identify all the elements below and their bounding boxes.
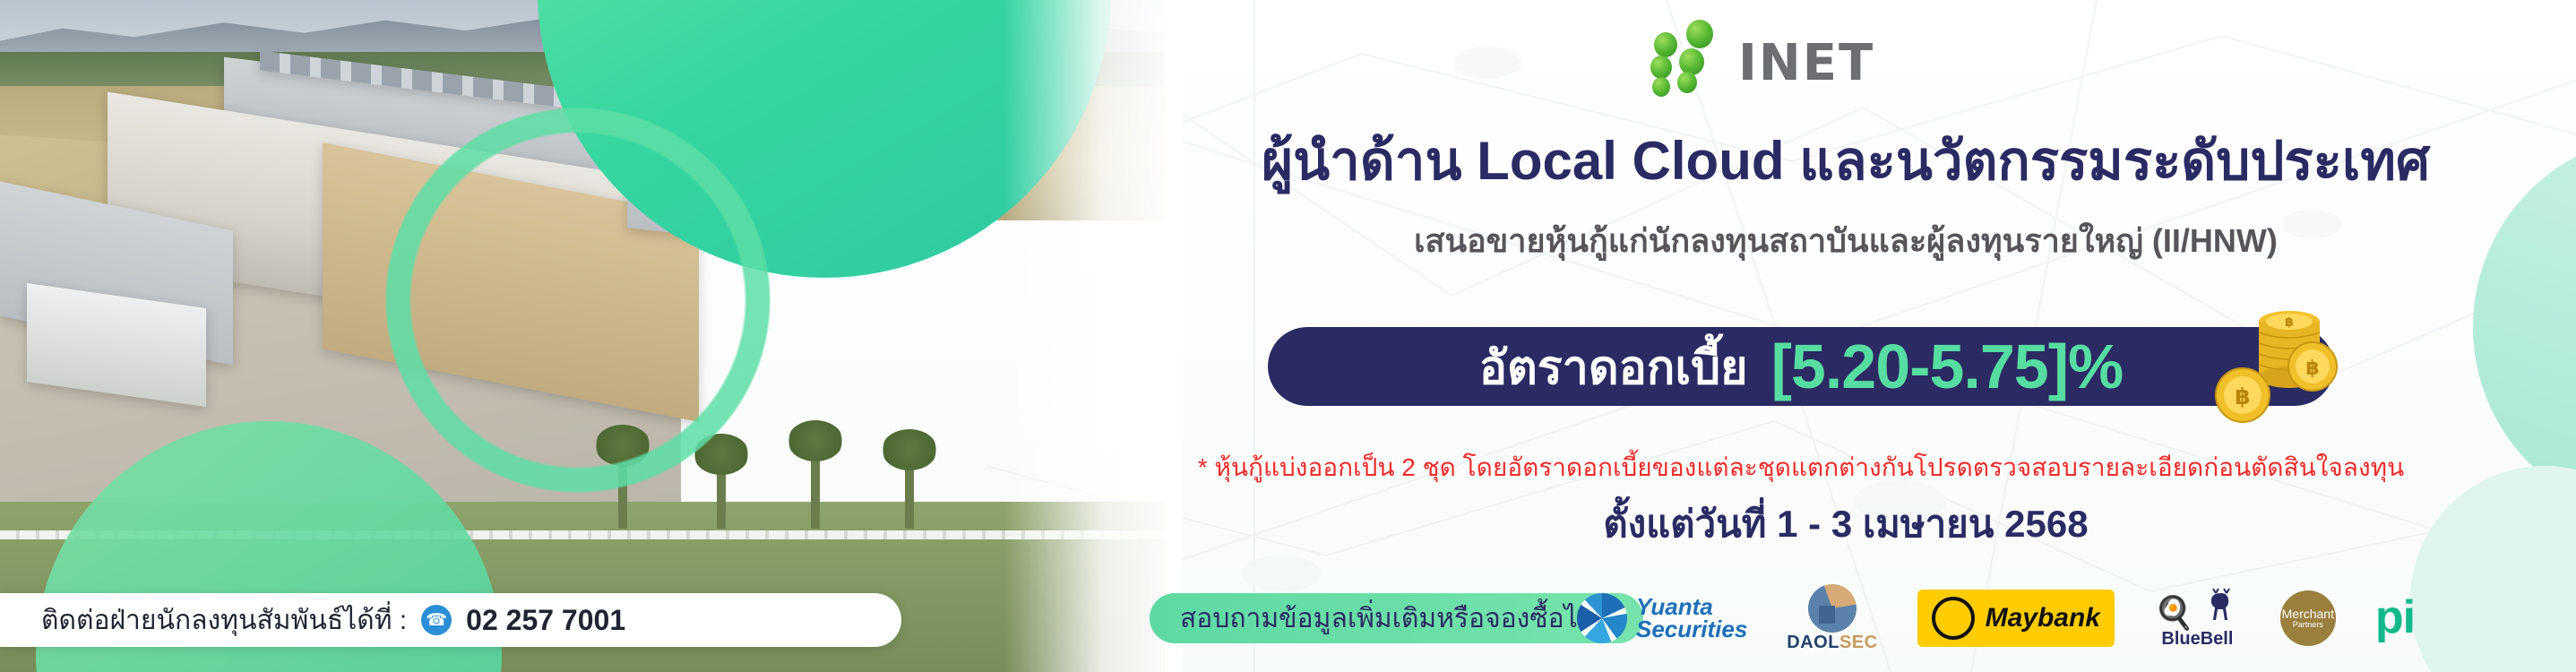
partner-logos: Yuanta Securities DAOLSEC Maybank 🍳‌: [1577, 581, 2415, 656]
maybank-wordmark: Maybank: [1986, 603, 2100, 633]
inet-logo: INET: [1638, 13, 1969, 84]
inet-dot-1: [1686, 20, 1713, 48]
partner-bluebell[interactable]: 🍳‌ BlueBell: [2154, 581, 2241, 656]
photo-palm-3: [811, 444, 820, 529]
contact-phone-number[interactable]: 02 257 7001: [466, 604, 625, 637]
yuanta-wordmark: Yuanta Securities: [1636, 596, 1747, 640]
deer-glyph: [2203, 588, 2241, 624]
bluebell-wordmark: BlueBell: [2154, 629, 2241, 650]
inet-dot-6: [1652, 77, 1670, 97]
merchant-circle-icon: Merchant Partners: [2280, 590, 2336, 646]
inet-dot-5: [1677, 72, 1697, 93]
investor-relations-contact: ติดต่อฝ่ายนักลงทุนสัมพันธ์ได้ที่ : ☎ 02 …: [0, 593, 901, 647]
photo-palm-2: [717, 457, 726, 529]
page-title: ผู้นำด้าน Local Cloud และนวัตกรรมระดับปร…: [1183, 133, 2509, 191]
partner-maybank[interactable]: Maybank: [1917, 581, 2115, 656]
maybank-tiger-icon: [1932, 597, 1975, 640]
svg-text:฿: ฿: [2235, 383, 2250, 409]
phone-icon: ☎: [421, 605, 452, 635]
cta-label: สอบถามข้อมูลเพิ่มเติมหรือจองซื้อได้ที่: [1180, 598, 1613, 640]
photo-palm-4: [905, 452, 914, 529]
yuanta-line2: Securities: [1636, 618, 1747, 641]
photo-fade-overlay: [1004, 0, 1183, 672]
contact-label: ติดต่อฝ่ายนักลงทุนสัมพันธ์ได้ที่ :: [41, 599, 407, 642]
daol-name: DAOL: [1787, 633, 1839, 652]
inet-dot-4: [1650, 56, 1672, 79]
partner-yuanta[interactable]: Yuanta Securities: [1577, 581, 1747, 656]
promo-banner: INET ผู้นำด้าน Local Cloud และนวัตกรรมระ…: [0, 0, 2576, 672]
partner-merchant[interactable]: Merchant Partners: [2280, 581, 2336, 656]
daol-wordmark: DAOLSEC: [1787, 633, 1877, 653]
offering-dates: ตั้งแต่วันที่ 1 - 3 เมษายน 2568: [1183, 495, 2509, 554]
bluebell-deer-icon: 🍳‌: [2154, 588, 2241, 629]
partner-daolsec[interactable]: DAOLSEC: [1787, 581, 1877, 656]
inet-wordmark: INET: [1738, 34, 1874, 92]
interest-rate-value: [5.20-5.75]%: [1771, 331, 2124, 402]
yuanta-star-icon: [1577, 593, 1627, 643]
daol-accent: SEC: [1839, 633, 1878, 652]
interest-rate-box: อัตราดอกเบี้ย [5.20-5.75]% ฿ ฿: [1268, 327, 2334, 406]
gold-coins-icon: ฿ ฿ ฿: [2207, 302, 2341, 429]
svg-text:฿: ฿: [2285, 315, 2294, 330]
partner-pi[interactable]: pi: [2375, 581, 2415, 656]
disclaimer-text: * หุ้นกู้แบ่งออกเป็น 2 ชุด โดยอัตราดอกเบ…: [1075, 448, 2527, 487]
inet-dot-2: [1654, 32, 1677, 57]
green-arc-decoration: [385, 108, 771, 493]
cta-button[interactable]: สอบถามข้อมูลเพิ่มเติมหรือจองซื้อได้ที่: [1150, 593, 1643, 643]
page-subtitle: เสนอขายหุ้นกู้แก่นักลงทุนสถาบันและผู้ลงท…: [1183, 215, 2509, 266]
pi-wordmark-icon: pi: [2375, 599, 2415, 637]
merchant-line1: Merchant: [2282, 607, 2334, 621]
merchant-line2: Partners: [2293, 621, 2323, 629]
daol-circle-icon: [1808, 584, 1857, 633]
interest-rate-label: อัตราดอกเบี้ย: [1479, 330, 1748, 404]
inet-dot-3: [1679, 48, 1704, 75]
svg-text:฿: ฿: [2305, 358, 2319, 380]
